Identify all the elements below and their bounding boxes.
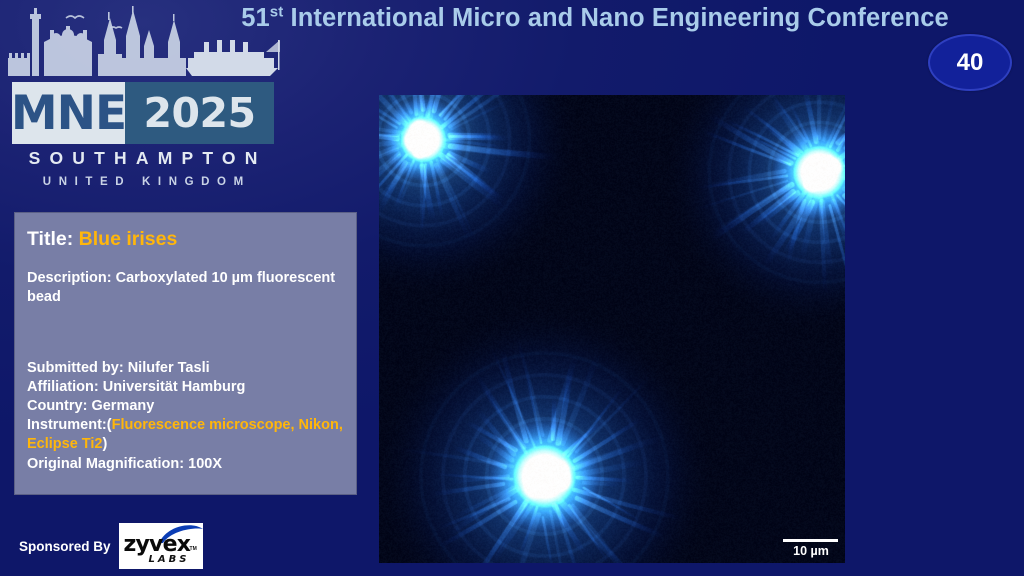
badge-number-label: 40 xyxy=(957,49,984,77)
info-instrument-row: Instrument:(Fluorescence microscope, Nik… xyxy=(27,416,356,454)
sponsor-area: Sponsored By zyvex TM LABS xyxy=(19,523,203,569)
info-country-value: Germany xyxy=(91,398,154,414)
panel-spacer xyxy=(27,313,356,359)
submission-info-panel: Title: Blue irises Description: Carboxyl… xyxy=(14,212,357,495)
info-description-row: Description: Carboxylated 10 µm fluoresc… xyxy=(27,269,356,307)
info-title-value: Blue irises xyxy=(79,228,178,250)
slide-canvas: 51st International Micro and Nano Engine… xyxy=(0,0,1024,576)
info-instrument-label: Instrument: xyxy=(27,417,107,433)
info-country-row: Country: Germany xyxy=(27,397,356,416)
zyvex-labs-logo: zyvex TM LABS xyxy=(119,523,203,569)
micrograph-canvas xyxy=(379,95,845,563)
info-submitted-label: Submitted by: xyxy=(27,360,124,376)
southampton-skyline-icon xyxy=(4,6,282,86)
title-main: International Micro and Nano Engineering… xyxy=(291,4,949,32)
info-magnification-label: Original Magnification: xyxy=(27,456,184,472)
info-country-label: Country: xyxy=(27,398,87,414)
sponsor-label: Sponsored By xyxy=(19,539,111,554)
info-affiliation-row: Affiliation: Universität Hamburg xyxy=(27,378,356,397)
zyvex-trademark-mark: TM xyxy=(190,546,197,552)
info-submitted-value: Nilufer Tasli xyxy=(128,360,210,376)
page-title: 51st International Micro and Nano Engine… xyxy=(175,4,1015,32)
logo-city-label: SOUTHAMPTON xyxy=(12,148,274,169)
info-description-label: Description: xyxy=(27,270,112,286)
entry-number-badge: 40 xyxy=(928,34,1012,91)
info-affiliation-value: Universität Hamburg xyxy=(103,379,246,395)
info-title-label: Title: xyxy=(27,228,73,250)
scalebar-line xyxy=(783,539,838,542)
scalebar-label: 10 µm xyxy=(771,544,845,558)
logo-country-label: UNITED KINGDOM xyxy=(12,176,274,188)
fluorescence-micrograph: 10 µm xyxy=(379,95,845,563)
logo-name-bar: MNE 2025 xyxy=(12,82,274,144)
mne-conference-logo: MNE 2025 SOUTHAMPTON UNITED KINGDOM xyxy=(4,6,282,196)
zyvex-labs-subtext: LABS xyxy=(149,554,190,565)
info-title-row: Title: Blue irises xyxy=(27,227,356,253)
info-affiliation-label: Affiliation: xyxy=(27,379,99,395)
logo-year-text: 2025 xyxy=(125,82,274,144)
info-magnification-row: Original Magnification: 100X xyxy=(27,455,356,474)
info-submitted-row: Submitted by: Nilufer Tasli xyxy=(27,359,356,378)
info-instrument-close-paren: ) xyxy=(103,436,108,452)
logo-mne-text: MNE xyxy=(12,82,125,144)
info-magnification-value: 100X xyxy=(188,456,222,472)
